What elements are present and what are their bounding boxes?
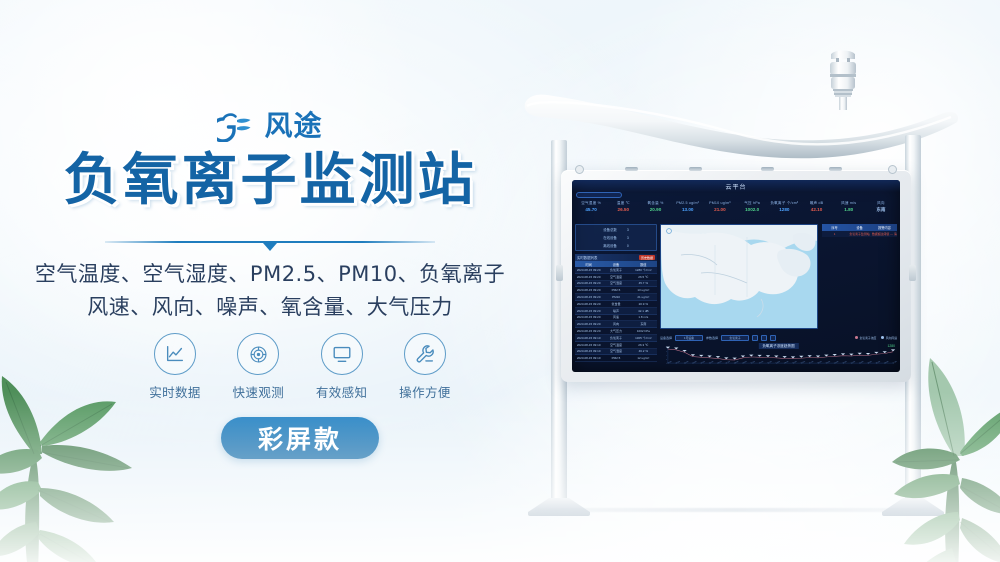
summary-value: 3	[627, 227, 629, 235]
device-select-label: 设备选择	[660, 336, 672, 340]
metric-item: PM2.5 ug/m³13.00	[672, 201, 704, 221]
svg-text:27:00: 27:00	[892, 361, 897, 364]
alarm-row[interactable]: 1负氧离子监测站数据超过阈值 — 请检查设备	[822, 231, 897, 237]
svg-text:11:00: 11:00	[759, 361, 765, 364]
chart-x-tick-label: 26:00	[884, 361, 890, 364]
chart-x-tick-label: 11:00	[759, 361, 765, 364]
metric-value: 13.00	[672, 206, 704, 213]
table-row[interactable]: 2023-08-15 09:20PM1021 ug/m³	[575, 294, 657, 301]
svg-text:15:00: 15:00	[792, 361, 798, 364]
page-title: 负氧离子监测站	[0, 152, 540, 211]
chart-x-tick-label: 10:00	[750, 361, 756, 364]
legend-item: 负氧离子浓度	[855, 336, 876, 340]
subtitle-line-1: 空气温度、空气湿度、PM2.5、PM10、负氧离子	[0, 258, 540, 291]
metric-item: 风向东南	[865, 201, 897, 221]
metric-item: PM10 ug/m³21.00	[704, 201, 736, 221]
chart-x-tick-label: 05:00	[709, 361, 715, 364]
chart-wind-barb-marker	[782, 356, 786, 358]
svg-text:10:00: 10:00	[750, 361, 756, 364]
svg-text:20:00: 20:00	[834, 361, 840, 364]
table-cell: 2023-08-15 09:10	[575, 336, 602, 340]
chart-wind-barb-marker	[707, 356, 711, 358]
svg-text:04:00: 04:00	[700, 361, 706, 364]
table-row[interactable]: 2023-08-15 09:20PM2.513 ug/m³	[575, 287, 657, 294]
chart-x-tick-label: 22:00	[851, 361, 857, 364]
chart-wind-barb-marker	[841, 353, 845, 355]
table-cell: 1.8 m/s	[630, 315, 657, 319]
table-row[interactable]: 2023-08-15 09:20噪声42.1 dB	[575, 308, 657, 315]
chart-wind-barb-marker	[849, 354, 853, 356]
summary-label: 设备总数	[603, 227, 617, 235]
alarm-cell: 1	[822, 232, 847, 236]
table-cell: 风向	[602, 322, 629, 326]
feature-list: 实时数据 快速观测 有效感知	[140, 333, 460, 401]
bottom-haze	[0, 392, 1000, 562]
svg-text:23:00: 23:00	[859, 361, 865, 364]
chart-x-tick-label: 27:00	[892, 361, 897, 364]
svg-text:03:00: 03:00	[692, 361, 698, 364]
svg-text:19:00: 19:00	[826, 361, 832, 364]
table-column-header: 时间	[575, 262, 602, 267]
svg-text:14:00: 14:00	[784, 361, 790, 364]
table-cell: 1280 个/cm³	[630, 268, 657, 272]
chart-x-tick-label: 21:00	[842, 361, 848, 364]
table-row[interactable]: 2023-08-15 09:20大气压力1002 hPa	[575, 328, 657, 335]
chart-x-tick-label: 06:00	[717, 361, 723, 364]
chart-x-tick-label: 19:00	[826, 361, 832, 364]
svg-text:12:00: 12:00	[767, 361, 773, 364]
table-cell: PM2.5	[602, 288, 629, 292]
device-summary-row: 设备总数3	[579, 227, 653, 235]
history-data-button[interactable]: 历史数据	[639, 255, 655, 260]
table-row[interactable]: 2023-08-15 09:10PM2.512 ug/m³	[575, 355, 657, 362]
table-row[interactable]: 2023-08-15 09:20负氧离子1280 个/cm³	[575, 267, 657, 274]
table-cell: 空气温度	[602, 275, 629, 279]
wave-canopy-icon	[521, 90, 961, 160]
metric-item: 风速 m/s1.80	[833, 201, 865, 221]
chart-x-tick-label: 25:00	[876, 361, 882, 364]
brand-name: 风途	[264, 112, 322, 140]
chart-x-tick-label: 09:00	[742, 361, 748, 364]
chart-wind-barb-marker	[824, 355, 828, 357]
chart-wind-barb-marker	[766, 355, 770, 357]
table-cell: 2023-08-15 09:20	[575, 275, 602, 279]
svg-text:16:00: 16:00	[801, 361, 807, 364]
table-cell: 26.3 ℃	[630, 343, 657, 347]
chart-wind-barb-marker	[816, 356, 820, 358]
metric-item: 负氧离子 个/cm³1280	[768, 201, 800, 221]
table-cell: 噪声	[602, 309, 629, 313]
chart-wind-barb-marker	[883, 351, 887, 353]
table-cell: 45.7 %	[630, 281, 657, 285]
chart-wind-barb-marker	[732, 358, 736, 360]
metric-value: 1002.0	[736, 206, 768, 213]
svg-text:21:00: 21:00	[842, 361, 848, 364]
table-cell: 26.5 ℃	[630, 275, 657, 279]
chart-wind-barb-marker	[891, 349, 895, 351]
chart-series-line	[668, 349, 893, 360]
dashboard-screen[interactable]: 云平台 空气湿度 %45.70温度 ℃26.50氧含量 %20.90PM2.5 …	[572, 180, 900, 372]
divider-triangle-icon	[263, 243, 277, 251]
chart-x-tick-label: 02:00	[684, 361, 690, 364]
china-map-icon[interactable]	[660, 224, 818, 329]
table-cell: 42.1 dB	[630, 309, 657, 313]
view-toggle-button-2[interactable]	[761, 335, 767, 341]
parameter-select-label: 参数选择	[706, 336, 718, 340]
svg-text:06:00: 06:00	[717, 361, 723, 364]
alarm-cell: 负氧离子监测站	[847, 232, 872, 236]
metrics-bar: 空气湿度 %45.70温度 ℃26.50氧含量 %20.90PM2.5 ug/m…	[575, 201, 897, 221]
svg-text:17:00: 17:00	[809, 361, 815, 364]
cabinet-clip	[625, 167, 638, 171]
table-cell: 13 ug/m³	[630, 288, 657, 292]
device-select[interactable]: 1号设备	[675, 335, 703, 341]
table-row[interactable]: 2023-08-15 09:20风向东南	[575, 321, 657, 328]
summary-value: 3	[627, 235, 629, 243]
chart-x-tick-label: 03:00	[692, 361, 698, 364]
metric-item: 空气湿度 %45.70	[575, 201, 607, 221]
chart-x-tick-label: 17:00	[809, 361, 815, 364]
chart-x-tick-label: 16:00	[801, 361, 807, 364]
metric-value: 1280	[768, 206, 800, 213]
chart-x-tick-label: 01:00	[675, 361, 681, 364]
cabinet-mount-ring-left	[575, 165, 584, 174]
table-cell: 2023-08-15 09:10	[575, 349, 602, 353]
cabinet-clip	[689, 167, 702, 171]
chart-wind-barb-marker	[791, 356, 795, 358]
table-cell: 1002 hPa	[630, 329, 657, 333]
table-cell: 2023-08-15 09:20	[575, 281, 602, 285]
table-row[interactable]: 2023-08-15 09:20氧含量20.9 %	[575, 301, 657, 308]
table-cell: 氧含量	[602, 302, 629, 306]
summary-value: 0	[627, 243, 629, 251]
subtitle-line-2: 风速、风向、噪声、氧含量、大气压力	[0, 291, 540, 324]
chart-x-tick-label: 14:00	[784, 361, 790, 364]
svg-text:01:00: 01:00	[675, 361, 681, 364]
svg-text:07:00: 07:00	[725, 361, 731, 364]
table-cell: PM10	[602, 295, 629, 299]
feature-item-easy-operation[interactable]: 操作方便	[390, 333, 460, 401]
table-title: 实时数据列表	[577, 255, 597, 260]
chart-x-tick-label: 24:00	[867, 361, 873, 364]
metric-item: 气压 hPa1002.0	[736, 201, 768, 221]
chart-x-tick-label: 15:00	[792, 361, 798, 364]
svg-text:05:00: 05:00	[709, 361, 715, 364]
table-cell: 2023-08-15 09:20	[575, 322, 602, 326]
ultrasonic-weather-sensor-icon	[823, 48, 863, 110]
chart-x-tick-label: 12:00	[767, 361, 773, 364]
chart-wind-barb-marker	[858, 353, 862, 355]
alarm-column-header: 设备	[847, 225, 872, 230]
table-cell: 2023-08-15 09:20	[575, 315, 602, 319]
cabinet-clip	[829, 167, 842, 171]
table-cell: 20.9 %	[630, 302, 657, 306]
table-row[interactable]: 2023-08-15 09:20风速1.8 m/s	[575, 315, 657, 322]
table-cell: 2023-08-15 09:20	[575, 309, 602, 313]
chart-wind-barb-marker	[799, 356, 803, 358]
table-cell: 2023-08-15 09:20	[575, 268, 602, 272]
device-summary-card: 设备总数3在线设备3离线设备0	[575, 224, 657, 251]
table-cell: 2023-08-15 09:20	[575, 288, 602, 292]
table-row[interactable]: 2023-08-15 09:20空气温度26.5 ℃	[575, 274, 657, 281]
radar-observe-icon	[237, 333, 279, 375]
chart-wind-barb-marker	[807, 355, 811, 357]
table-column-headers: 时间设备数值	[575, 261, 657, 267]
chart-x-tick-label: 23:00	[859, 361, 865, 364]
chart-x-tick-label: 20:00	[834, 361, 840, 364]
chart-wind-barb-marker	[757, 355, 761, 357]
station-selector-pill[interactable]	[576, 192, 622, 198]
title-divider	[105, 238, 435, 252]
alarm-cell: 数据超过阈值 — 请检查设备	[872, 232, 897, 236]
metric-value: 21.00	[704, 206, 736, 213]
svg-text:02:00: 02:00	[684, 361, 690, 364]
table-cell: 空气湿度	[602, 349, 629, 353]
metric-value: 东南	[865, 206, 897, 213]
alarm-rows[interactable]: 1负氧离子监测站数据超过阈值 — 请检查设备	[822, 231, 897, 237]
parameter-select[interactable]: 负氧离子	[721, 335, 749, 341]
metric-value: 20.90	[639, 206, 671, 213]
feature-item-realtime-data[interactable]: 实时数据	[140, 333, 210, 401]
brand-logo: 风途	[0, 104, 540, 148]
wrench-icon	[404, 333, 446, 375]
chart-wind-barb-marker	[741, 356, 745, 358]
line-chart-icon	[154, 333, 196, 375]
table-row[interactable]: 2023-08-15 09:10空气湿度46.2 %	[575, 349, 657, 356]
table-cell: 大气压力	[602, 329, 629, 333]
table-cell: 1305 个/cm³	[630, 336, 657, 340]
table-row[interactable]: 2023-08-15 09:10空气温度26.3 ℃	[575, 342, 657, 349]
table-cell: 风速	[602, 315, 629, 319]
svg-text:09:00: 09:00	[742, 361, 748, 364]
summary-label: 在线设备	[603, 235, 617, 243]
svg-text:25:00: 25:00	[876, 361, 882, 364]
svg-text:26:00: 26:00	[884, 361, 890, 364]
chart-x-tick-label: 07:00	[725, 361, 731, 364]
chart-controls: 设备选择 1号设备 参数选择 负氧离子 负氧离子浓度风向风速	[660, 333, 897, 342]
metric-value: 26.50	[607, 206, 639, 213]
metric-item: 氧含量 %20.90	[639, 201, 671, 221]
chart-wind-barb-marker	[749, 355, 753, 357]
alarm-column-header: 序号	[822, 225, 847, 230]
table-cell: 46.2 %	[630, 349, 657, 353]
table-header-bar: 实时数据列表 历史数据	[575, 254, 657, 261]
chart-wind-barb-marker	[674, 348, 678, 350]
table-cell: 12 ug/m³	[630, 356, 657, 360]
metric-value: 1.80	[833, 206, 865, 213]
metric-item: 温度 ℃26.50	[607, 201, 639, 221]
svg-text:13:00: 13:00	[775, 361, 781, 364]
legend-item: 风向风速	[881, 336, 897, 340]
data-table-body[interactable]: 2023-08-15 09:20负氧离子1280 个/cm³2023-08-15…	[575, 267, 657, 362]
hero-subtitle: 空气温度、空气湿度、PM2.5、PM10、负氧离子 风速、风向、噪声、氧含量、大…	[0, 258, 540, 323]
svg-text:22:00: 22:00	[851, 361, 857, 364]
leaf-g-logo-icon	[217, 110, 257, 142]
cabinet-side-nub-right	[909, 265, 916, 281]
cabinet-clip	[761, 167, 774, 171]
table-cell: 空气温度	[602, 343, 629, 347]
svg-text:08:00: 08:00	[734, 361, 740, 364]
metric-item: 噪声 dB42.10	[800, 201, 832, 221]
device-summary-row: 在线设备3	[579, 235, 653, 243]
device-summary-row: 离线设备0	[579, 243, 653, 251]
table-cell: PM2.5	[602, 356, 629, 360]
table-column-header: 数值	[630, 262, 657, 267]
chart-x-tick-label: 18:00	[817, 361, 823, 364]
chart-wind-barb-marker	[874, 352, 878, 354]
table-cell: 东南	[630, 322, 657, 326]
chart-wind-barb-marker	[716, 356, 720, 358]
table-cell: 2023-08-15 09:10	[575, 356, 602, 360]
table-cell: 空气湿度	[602, 281, 629, 285]
table-cell: 2023-08-15 09:10	[575, 343, 602, 347]
view-toggle-button-1[interactable]	[752, 335, 758, 341]
trend-chart[interactable]: 负氧离子浓度趋势图 1280 00:0001:0002:0003:0004:00…	[660, 343, 897, 369]
chart-wind-barb-marker	[866, 353, 870, 355]
metric-value: 42.10	[800, 206, 832, 213]
table-cell: 2023-08-15 09:20	[575, 295, 602, 299]
chart-x-tick-label: 13:00	[775, 361, 781, 364]
dashboard-title: 云平台	[572, 182, 900, 191]
chart-wind-barb-marker	[699, 355, 703, 357]
table-column-header: 设备	[602, 262, 629, 267]
chart-x-tick-label: 04:00	[700, 361, 706, 364]
table-row[interactable]: 2023-08-15 09:20空气湿度45.7 %	[575, 281, 657, 288]
view-toggle-button-3[interactable]	[770, 335, 776, 341]
chart-wind-barb-marker	[774, 356, 778, 358]
table-cell: 负氧离子	[602, 268, 629, 272]
table-cell: 2023-08-15 09:20	[575, 329, 602, 333]
svg-text:24:00: 24:00	[867, 361, 873, 364]
summary-label: 离线设备	[603, 243, 617, 251]
svg-text:18:00: 18:00	[817, 361, 823, 364]
table-cell: 21 ug/m³	[630, 295, 657, 299]
chart-wind-barb-marker	[833, 354, 837, 356]
table-cell: 2023-08-15 09:20	[575, 302, 602, 306]
metric-value: 45.70	[575, 206, 607, 213]
alarm-header-row: 序号设备报警内容	[822, 224, 897, 231]
table-cell: 负氧离子	[602, 336, 629, 340]
display-cabinet: 云平台 空气湿度 %45.70温度 ℃26.50氧含量 %20.90PM2.5 …	[561, 170, 911, 382]
feature-item-effective-sensing[interactable]: 有效感知	[307, 333, 377, 401]
table-row[interactable]: 2023-08-15 09:10负氧离子1305 个/cm³	[575, 335, 657, 342]
chart-wind-barb-marker	[724, 357, 728, 359]
alarm-column-header: 报警内容	[872, 225, 897, 230]
chart-x-tick-label: 08:00	[734, 361, 740, 364]
left-panel: 设备总数3在线设备3离线设备0 实时数据列表 历史数据 时间设备数值 2023-…	[575, 224, 657, 369]
chart-legend: 负氧离子浓度风向风速	[855, 336, 897, 340]
cabinet-side-nub-left	[556, 265, 563, 281]
chart-title: 负氧离子浓度趋势图	[758, 343, 798, 349]
chart-wind-barb-marker	[682, 350, 686, 352]
feature-item-fast-observation[interactable]: 快速观测	[223, 333, 293, 401]
chart-current-value: 1280	[887, 344, 895, 348]
monitor-icon	[321, 333, 363, 375]
cabinet-mount-ring-right	[888, 165, 897, 174]
